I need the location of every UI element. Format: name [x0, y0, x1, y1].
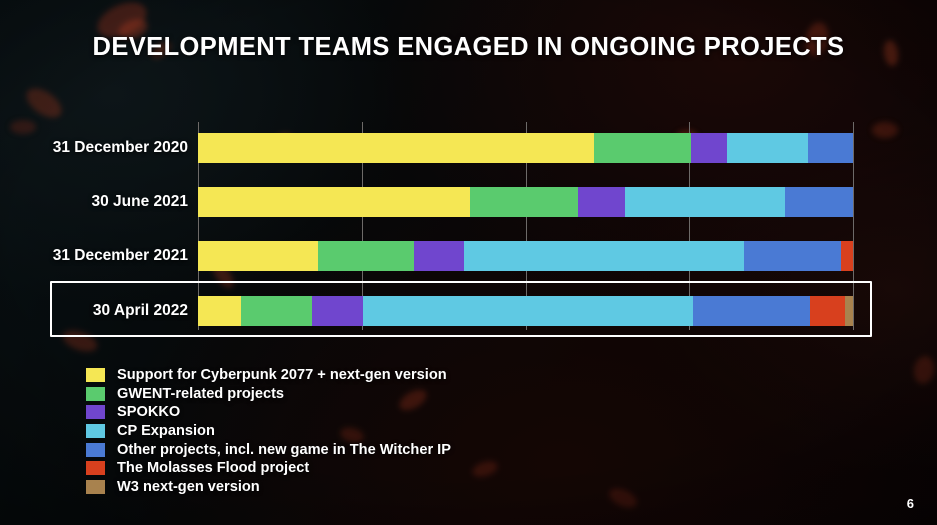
legend-label: Support for Cyberpunk 2077 + next-gen ve… [117, 367, 447, 383]
bar-segment [414, 241, 464, 271]
legend-swatch-cp2077_support [86, 368, 105, 382]
legend-item-spokko: SPOKKO [86, 403, 451, 422]
bar-segment [841, 241, 853, 271]
legend-swatch-other_projects [86, 443, 105, 457]
legend-swatch-spokko [86, 405, 105, 419]
legend-label: SPOKKO [117, 404, 180, 420]
bar-segment [318, 241, 414, 271]
bar-segment [198, 187, 470, 217]
row-label-3: 31 December 2021 [0, 241, 188, 271]
legend-label: GWENT-related projects [117, 386, 284, 402]
presentation-slide: DEVELOPMENT TEAMS ENGAGED IN ONGOING PRO… [0, 0, 937, 525]
stacked-bar [198, 241, 853, 271]
legend-swatch-molasses_flood [86, 461, 105, 475]
bar-segment [198, 241, 318, 271]
bar-segment [464, 241, 744, 271]
legend-item-w3_nextgen: W3 next-gen version [86, 478, 451, 497]
legend-swatch-w3_nextgen [86, 480, 105, 494]
legend-label: The Molasses Flood project [117, 460, 309, 476]
chart-legend: Support for Cyberpunk 2077 + next-gen ve… [86, 366, 451, 496]
highlight-box-current-period [50, 281, 872, 337]
legend-item-gwent: GWENT-related projects [86, 385, 451, 404]
bar-segment [625, 187, 785, 217]
bar-segment [727, 133, 808, 163]
page-number: 6 [907, 496, 914, 511]
bar-segment [594, 133, 690, 163]
row-label-2: 30 June 2021 [0, 187, 188, 217]
chart-row: 31 December 2021 [0, 241, 937, 271]
row-label-1: 31 December 2020 [0, 133, 188, 163]
bar-segment [198, 133, 594, 163]
chart-row: 31 December 2020 [0, 133, 937, 163]
legend-label: CP Expansion [117, 423, 215, 439]
bar-segment [470, 187, 578, 217]
legend-item-cp2077_support: Support for Cyberpunk 2077 + next-gen ve… [86, 366, 451, 385]
legend-item-molasses_flood: The Molasses Flood project [86, 459, 451, 478]
bar-segment [808, 133, 853, 163]
stacked-bar [198, 133, 853, 163]
chart-row: 30 June 2021 [0, 187, 937, 217]
bar-segment [744, 241, 840, 271]
legend-label: Other projects, incl. new game in The Wi… [117, 442, 451, 458]
stacked-bar [198, 187, 853, 217]
legend-swatch-cp_expansion [86, 424, 105, 438]
legend-item-cp_expansion: CP Expansion [86, 422, 451, 441]
bar-segment [785, 187, 853, 217]
bar-segment [578, 187, 625, 217]
legend-label: W3 next-gen version [117, 479, 260, 495]
legend-swatch-gwent [86, 387, 105, 401]
legend-item-other_projects: Other projects, incl. new game in The Wi… [86, 440, 451, 459]
bar-segment [691, 133, 728, 163]
